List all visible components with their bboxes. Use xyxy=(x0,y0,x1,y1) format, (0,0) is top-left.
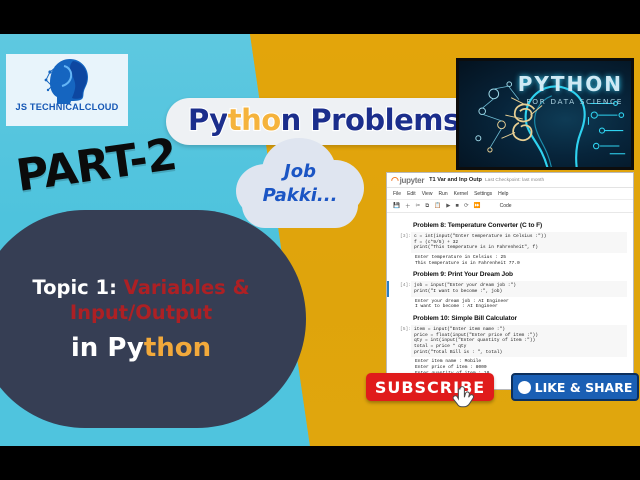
title-segment-problems: Problems xyxy=(301,103,460,137)
cell-heading: Problem 10: Simple Bill Calculator xyxy=(413,315,633,322)
notebook-checkpoint: Last Checkpoint: last month xyxy=(485,178,544,183)
python-data-science-banner: PYTHON FOR DATA SCIENCE xyxy=(456,58,634,170)
logo-text-js: JS xyxy=(16,102,30,112)
topic-heading: Topic 1: Variables &Input/Output xyxy=(32,275,249,325)
add-icon[interactable]: ＋ xyxy=(405,202,411,210)
notebook-topbar: ◠jupyter T1 Var and Inp Outp Last Checkp… xyxy=(387,173,633,188)
thumbs-up-icon xyxy=(518,381,531,394)
cell-code[interactable]: c = int(input("Enter temperature in Cels… xyxy=(411,232,627,253)
channel-logo-text: JS TECHNICALCLOUD xyxy=(16,102,119,112)
run-icon[interactable]: ▶ xyxy=(446,203,450,209)
cell-type-select[interactable]: Code xyxy=(500,203,512,209)
jupyter-logo-text: jupyter xyxy=(400,176,425,185)
notebook-filename[interactable]: T1 Var and Inp Outp xyxy=(429,177,482,183)
cloud-text: Job Pakki... xyxy=(236,160,364,208)
cell-heading: Problem 8: Temperature Converter (C to F… xyxy=(413,222,633,229)
jupyter-notebook-window[interactable]: ◠jupyter T1 Var and Inp Outp Last Checkp… xyxy=(386,172,634,390)
topic-subject-line-1: Variables & xyxy=(124,276,250,299)
topic-in-accent: thon xyxy=(144,333,211,363)
notebook-menubar[interactable]: File Edit View Run Kernel Settings Help xyxy=(387,188,633,200)
like-and-share-label: LIKE & SHARE xyxy=(535,380,633,395)
topic-language: in Python xyxy=(71,333,211,363)
copy-icon[interactable]: ⧉ xyxy=(425,203,429,210)
cell-output: Enter your dream job : AI Engineer I wan… xyxy=(415,299,633,311)
cell-output: Enter temperature in Celsius : 25 This t… xyxy=(415,255,633,267)
logo-text-cloud: TECHNICALCLOUD xyxy=(30,102,119,112)
topic-prefix: Topic 1: xyxy=(32,276,123,299)
cell-prompt: [5]: xyxy=(391,325,411,357)
cloud-callout: Job Pakki... xyxy=(236,138,364,234)
channel-logo: JS TECHNICALCLOUD xyxy=(6,54,128,126)
banner-subtitle: FOR DATA SCIENCE xyxy=(518,97,623,106)
menu-item-run[interactable]: Run xyxy=(438,191,447,197)
cell-prompt: [3]: xyxy=(391,232,411,253)
title-segment-n: n xyxy=(281,103,301,137)
cloud-line-1: Job xyxy=(236,160,364,184)
title-segment-py: Py xyxy=(188,103,228,137)
cut-icon[interactable]: ✂ xyxy=(416,203,421,209)
notebook-cell[interactable]: [3]: c = int(input("Enter temperature in… xyxy=(387,232,633,253)
hand-pointer-icon xyxy=(452,386,474,412)
restart-icon[interactable]: ⟳ xyxy=(464,203,469,209)
menu-item-help[interactable]: Help xyxy=(498,191,508,197)
cell-heading: Problem 9: Print Your Dream Job xyxy=(413,271,633,278)
cell-code[interactable]: item = input("Enter item name :") price … xyxy=(411,325,627,357)
banner-title-block: PYTHON FOR DATA SCIENCE xyxy=(518,72,623,106)
cell-code[interactable]: job = input("Enter your dream job :") pr… xyxy=(411,281,627,296)
notebook-cell[interactable]: [5]: item = input("Enter item name :") p… xyxy=(387,325,633,357)
subscribe-button[interactable]: SUBSCRIBE xyxy=(366,373,494,401)
menu-item-kernel[interactable]: Kernel xyxy=(454,191,468,197)
menu-item-view[interactable]: View xyxy=(422,191,433,197)
notebook-body[interactable]: Problem 8: Temperature Converter (C to F… xyxy=(387,213,633,390)
topic-subject-line-2: Input/Output xyxy=(70,301,212,324)
ai-head-icon xyxy=(40,56,94,104)
cell-selection-bar xyxy=(387,325,389,357)
main-title: Python Problems xyxy=(188,103,460,137)
thumbnail-content: JS TECHNICALCLOUD PART-2 Python Problems… xyxy=(0,34,640,446)
menu-item-edit[interactable]: Edit xyxy=(407,191,416,197)
notebook-cell[interactable]: [4]: job = input("Enter your dream job :… xyxy=(387,281,633,296)
like-and-share-button[interactable]: LIKE & SHARE xyxy=(511,373,639,401)
jupyter-logo[interactable]: ◠jupyter xyxy=(391,175,424,186)
cell-selection-bar xyxy=(387,281,389,296)
restart-run-all-icon[interactable]: ⏩ xyxy=(474,203,481,209)
menu-item-settings[interactable]: Settings xyxy=(474,191,492,197)
save-icon[interactable]: 💾 xyxy=(393,203,400,209)
banner-title: PYTHON xyxy=(518,72,623,96)
topic-in-label: in Py xyxy=(71,333,144,363)
thumbnail-canvas: JS TECHNICALCLOUD PART-2 Python Problems… xyxy=(0,0,640,480)
stop-icon[interactable]: ■ xyxy=(456,203,459,209)
title-segment-tho: tho xyxy=(228,103,281,137)
cell-prompt: [4]: xyxy=(391,281,411,296)
jupyter-planet-icon: ◠ xyxy=(391,175,399,185)
cell-selection-bar xyxy=(387,232,389,253)
menu-item-file[interactable]: File xyxy=(393,191,401,197)
notebook-toolbar[interactable]: 💾 ＋ ✂ ⧉ 📋 ▶ ■ ⟳ ⏩ Code xyxy=(387,200,633,213)
paste-icon[interactable]: 📋 xyxy=(434,203,441,209)
topic-card: Topic 1: Variables &Input/Output in Pyth… xyxy=(0,210,306,428)
cloud-line-2: Pakki... xyxy=(236,184,364,208)
